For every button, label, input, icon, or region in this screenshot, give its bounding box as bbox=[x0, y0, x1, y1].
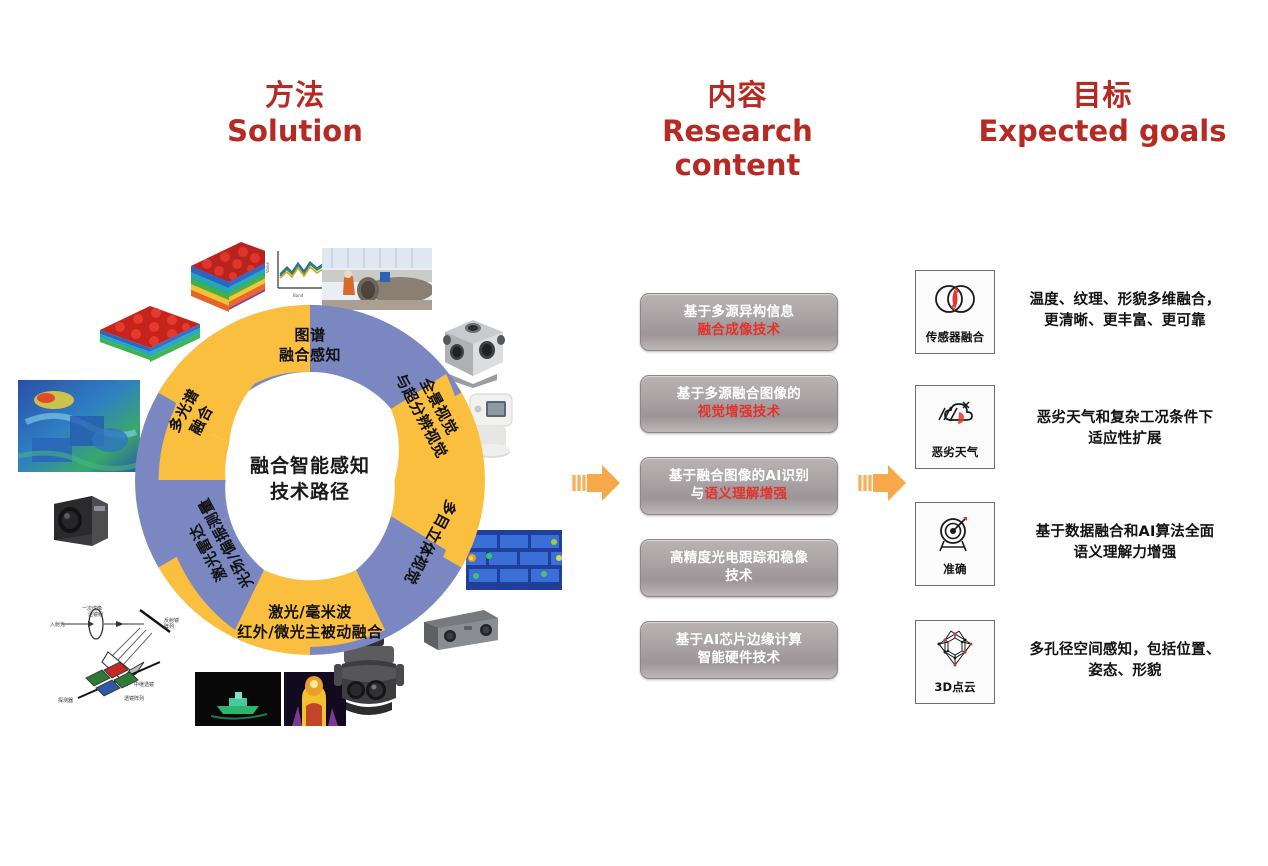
research-box-3-line1: 基于融合图像的AI识别 bbox=[669, 468, 809, 486]
goal-text-4-line2: 姿态、形貌 bbox=[1088, 663, 1162, 679]
svg-text:透镜组: 透镜组 bbox=[88, 611, 103, 618]
goal-text-4-line1: 多孔径空间感知，包括位置、 bbox=[1029, 642, 1220, 658]
goal-card-point-cloud[interactable]: 3D点云 bbox=[915, 620, 995, 704]
wheel-label-bottom: 激光/毫米波红外/微光主被动融合 bbox=[237, 603, 382, 642]
technology-path-wheel: 图谱融合感知 全景视觉与超分辨视觉 多目立体视觉 激光/毫米波红外/微光主被动融… bbox=[130, 300, 490, 660]
point-cloud-icon bbox=[931, 629, 979, 673]
goal-text-1-line1: 温度、纹理、形貌多维融合， bbox=[1029, 292, 1220, 308]
research-box-2-line1: 基于多源融合图像的 bbox=[677, 386, 801, 404]
svg-text:中继透镜: 中继透镜 bbox=[134, 681, 154, 688]
arrow-solution-to-content bbox=[572, 462, 622, 504]
column-header-content: 内容 Research content bbox=[595, 78, 880, 183]
research-box-5-line2: 智能硬件技术 bbox=[676, 650, 802, 668]
research-box-1-line1: 基于多源异构信息 bbox=[684, 304, 794, 322]
svg-text:一次成像: 一次成像 bbox=[82, 605, 102, 612]
goal-text-3-line1: 基于数据融合和AI算法全面 bbox=[1036, 524, 1215, 540]
svg-text:透镜阵列: 透镜阵列 bbox=[124, 695, 144, 702]
compact-camera-image bbox=[46, 490, 114, 550]
header-en-solution: Solution bbox=[175, 114, 415, 148]
svg-text:入射光: 入射光 bbox=[50, 621, 65, 628]
research-box-4[interactable]: 高精度光电跟踪和稳像 技术 bbox=[640, 539, 838, 597]
research-box-5-line1: 基于AI芯片边缘计算 bbox=[676, 632, 802, 650]
goal-text-bad-weather: 恶劣天气和复杂工况条件下 适应性扩展 bbox=[1000, 408, 1250, 450]
header-en-goals: Expected goals bbox=[960, 114, 1245, 148]
research-box-4-line1: 高精度光电跟踪和稳像 bbox=[670, 550, 808, 568]
goal-card-accuracy[interactable]: 准确 bbox=[915, 502, 995, 586]
goal-text-2-line2: 适应性扩展 bbox=[1088, 431, 1162, 447]
svg-text:Value: Value bbox=[265, 261, 270, 273]
svg-text:Band: Band bbox=[293, 293, 304, 298]
header-cn-goals: 目标 bbox=[960, 78, 1245, 112]
venn-fusion-icon bbox=[931, 279, 979, 323]
research-box-3[interactable]: 基于融合图像的AI识别 与语义理解增强 bbox=[640, 457, 838, 515]
research-box-3-line2: 语义理解增强 bbox=[705, 486, 788, 502]
research-box-1-line2: 融合成像技术 bbox=[684, 322, 794, 340]
goal-text-2-line1: 恶劣天气和复杂工况条件下 bbox=[1037, 410, 1213, 426]
wheel-label-top: 图谱融合感知 bbox=[279, 326, 341, 365]
goal-card-bad-weather[interactable]: 恶劣天气 bbox=[915, 385, 995, 469]
svg-text:探测器: 探测器 bbox=[58, 697, 73, 704]
column-header-goals: 目标 Expected goals bbox=[960, 78, 1245, 148]
goal-text-point-cloud: 多孔径空间感知，包括位置、 姿态、形貌 bbox=[1000, 640, 1250, 682]
research-box-4-line2: 技术 bbox=[670, 568, 808, 586]
night-vision-ship-image bbox=[195, 672, 281, 726]
goal-card-sensor-fusion[interactable]: 传感器融合 bbox=[915, 270, 995, 354]
header-cn-content: 内容 bbox=[595, 78, 880, 112]
goal-text-1-line2: 更清晰、更丰富、更可靠 bbox=[1044, 313, 1206, 329]
goal-text-sensor-fusion: 温度、纹理、形貌多维融合， 更清晰、更丰富、更可靠 bbox=[1000, 290, 1250, 332]
goal-card-3-caption: 准确 bbox=[943, 561, 966, 577]
research-box-2-line2: 视觉增强技术 bbox=[677, 404, 801, 422]
bad-weather-icon bbox=[931, 394, 979, 438]
diagram-canvas: 方法 Solution 内容 Research content 目标 Expec… bbox=[0, 0, 1268, 866]
research-box-5[interactable]: 基于AI芯片边缘计算 智能硬件技术 bbox=[640, 621, 838, 679]
research-box-3-line2-prefix: 与 bbox=[691, 486, 705, 502]
research-box-2[interactable]: 基于多源融合图像的 视觉增强技术 bbox=[640, 375, 838, 433]
research-box-1[interactable]: 基于多源异构信息 融合成像技术 bbox=[640, 293, 838, 351]
arrow-content-to-goals bbox=[858, 462, 908, 504]
header-cn-solution: 方法 bbox=[175, 78, 415, 112]
goal-card-1-caption: 传感器融合 bbox=[926, 329, 985, 345]
target-bullseye-icon bbox=[931, 511, 979, 555]
goal-text-accuracy: 基于数据融合和AI算法全面 语义理解力增强 bbox=[1000, 522, 1250, 564]
header-en-content: Research content bbox=[595, 114, 880, 182]
thermal-engine-image bbox=[18, 380, 140, 472]
goal-text-3-line2: 语义理解力增强 bbox=[1074, 545, 1177, 561]
goal-card-4-caption: 3D点云 bbox=[934, 679, 975, 695]
goal-card-2-caption: 恶劣天气 bbox=[932, 444, 979, 460]
column-header-solution: 方法 Solution bbox=[175, 78, 415, 148]
